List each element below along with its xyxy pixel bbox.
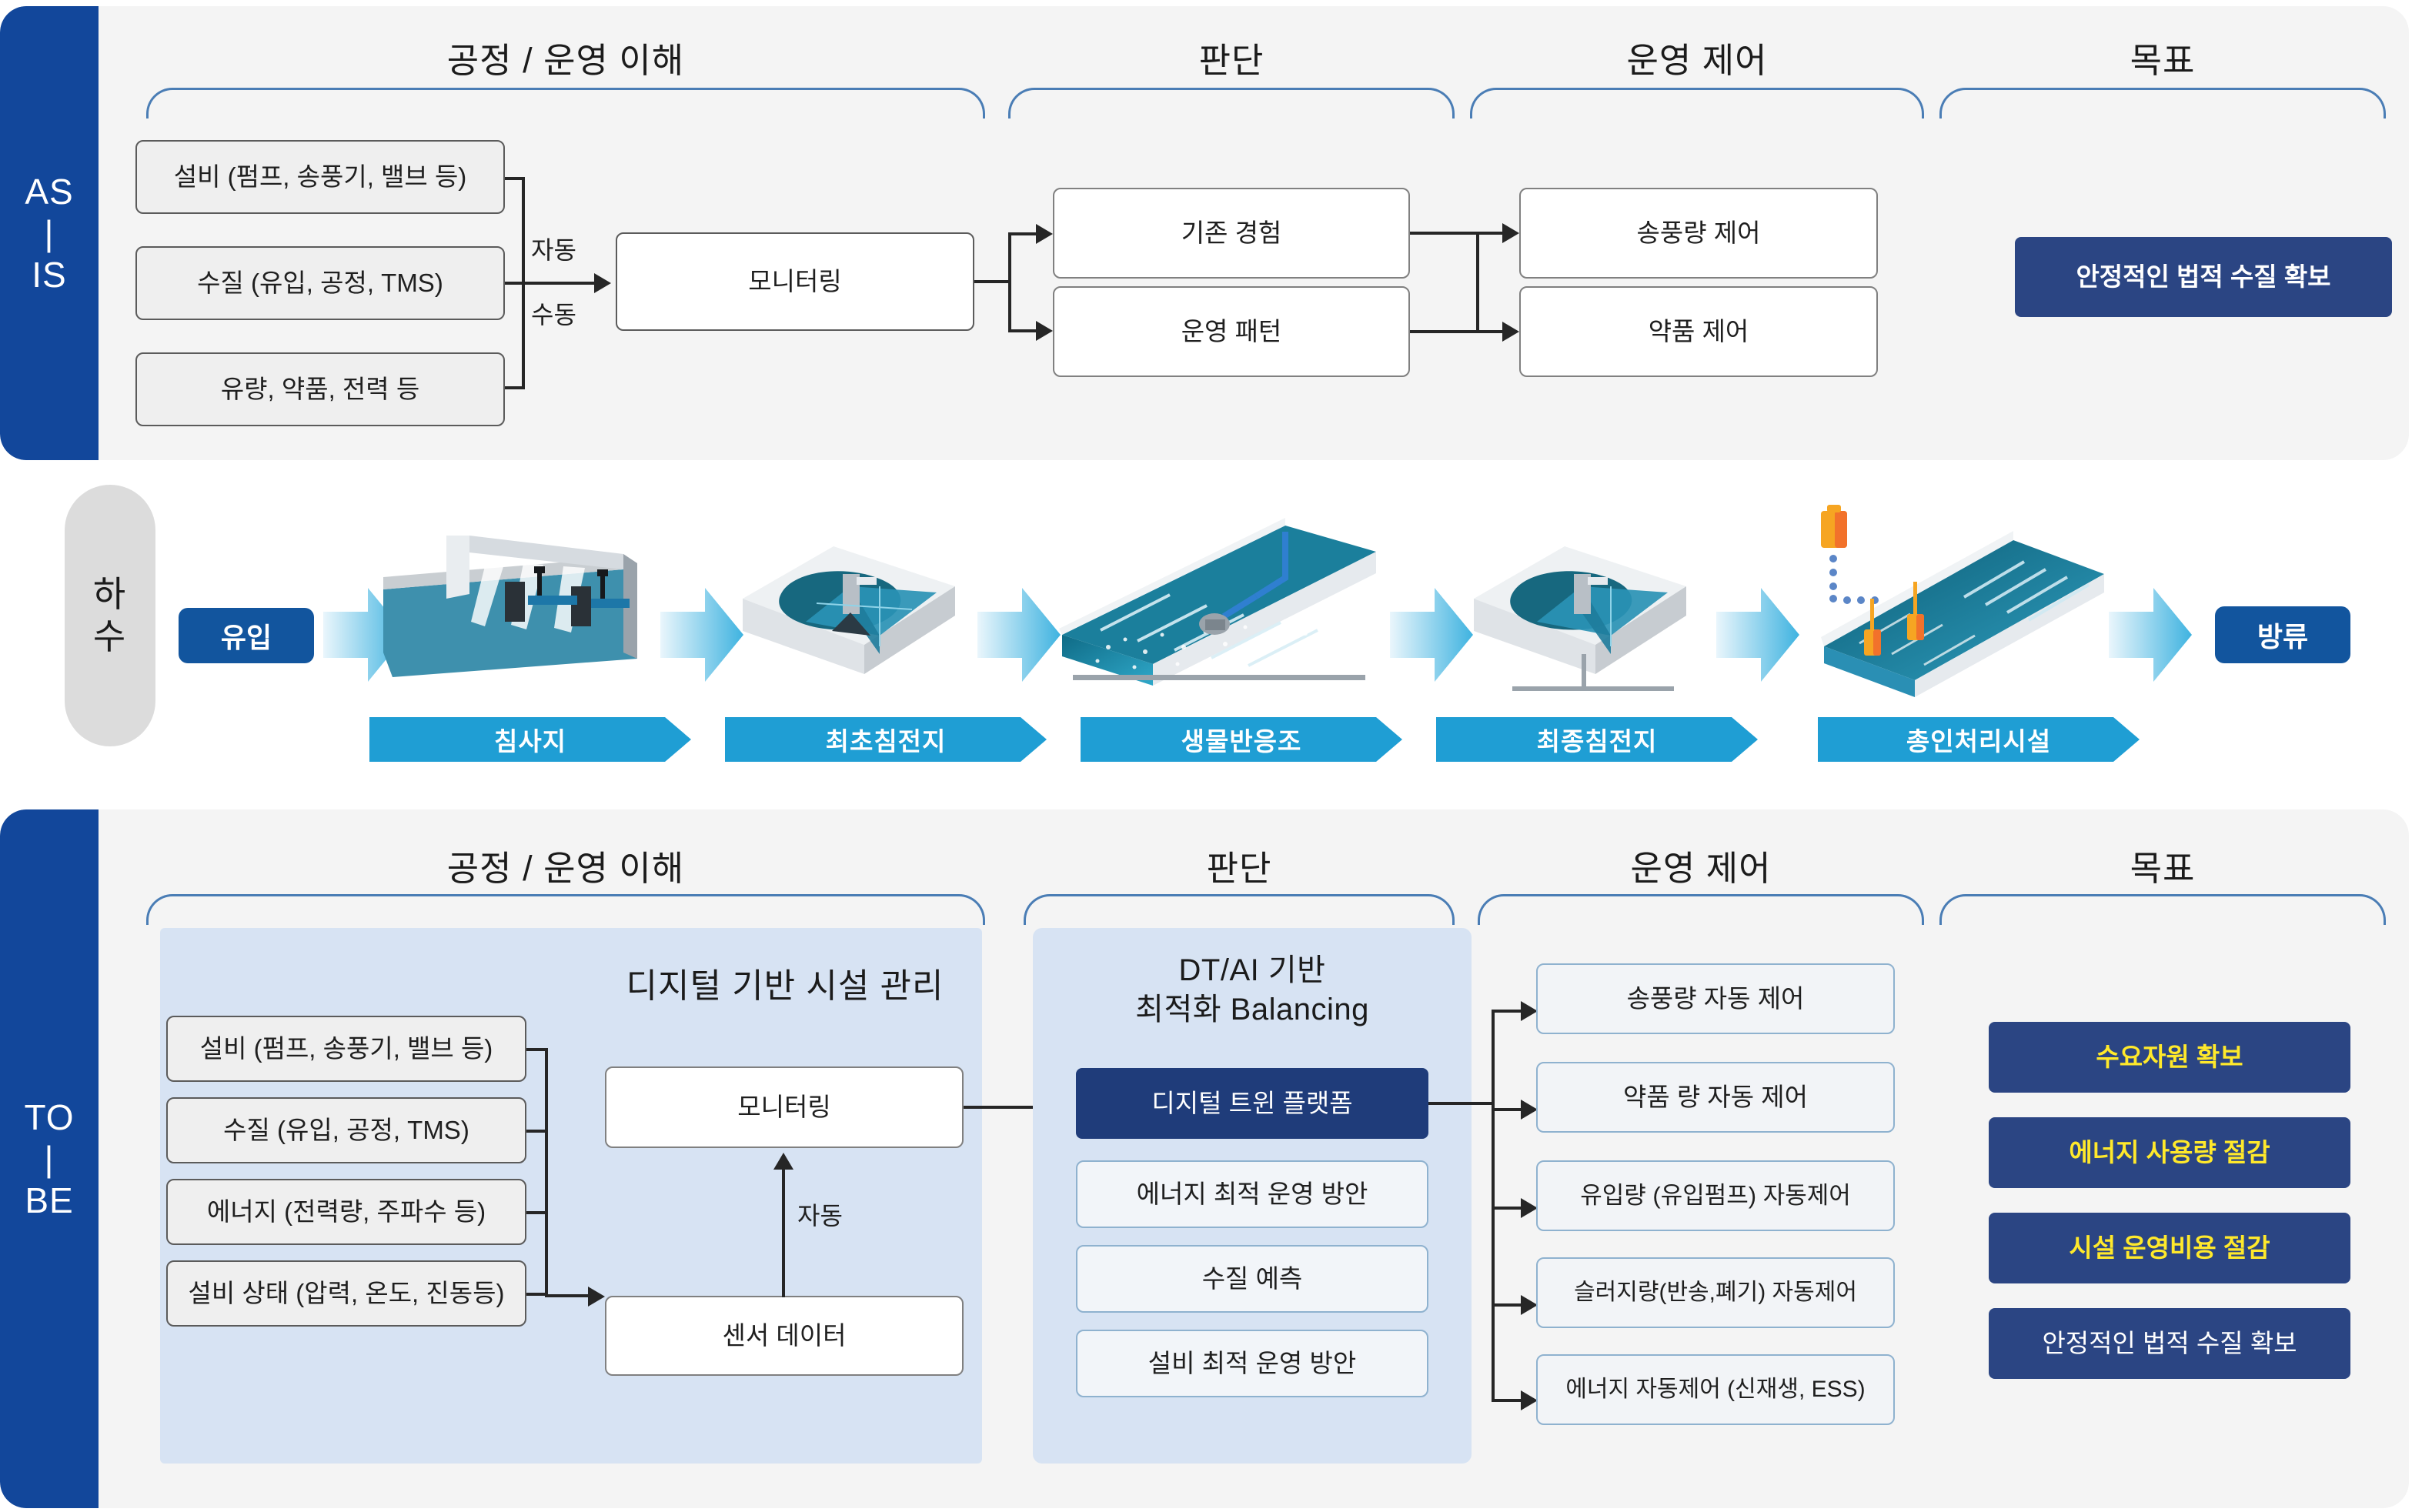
process-stage-chevron: 최종침전지 bbox=[1436, 717, 1758, 762]
stage-illustration-saengmulbanungjo bbox=[1054, 504, 1385, 696]
as-is-mon-out-line bbox=[974, 280, 1011, 283]
to-be-monitoring-box: 모니터링 bbox=[605, 1066, 964, 1148]
as-is-brace-process bbox=[146, 88, 985, 118]
to-be-brace-judgement bbox=[1024, 894, 1455, 925]
process-inlet-pill: 유입 bbox=[179, 608, 314, 663]
as-is-label-manual: 수동 bbox=[531, 295, 576, 331]
as-is-tab: AS | IS bbox=[0, 6, 99, 460]
to-be-bracket-stub bbox=[526, 1211, 548, 1214]
as-is-control-box: 송풍량 제어 bbox=[1519, 188, 1878, 279]
to-be-brace-goal bbox=[1939, 894, 2386, 925]
to-be-bracket-out bbox=[545, 1294, 593, 1297]
to-be-dtai-item-box: 설비 최적 운영 방안 bbox=[1076, 1330, 1428, 1397]
to-be-brace-control bbox=[1478, 894, 1924, 925]
to-be-dtai-item-box: 에너지 최적 운영 방안 bbox=[1076, 1160, 1428, 1228]
to-be-input-box: 설비 상태 (압력, 온도, 진동등) bbox=[166, 1260, 526, 1327]
to-be-goal-box: 에너지 사용량 절감 bbox=[1989, 1117, 2350, 1188]
process-tab: 하 수 bbox=[65, 485, 155, 746]
to-be-col-title-goal: 목표 bbox=[1939, 840, 2386, 890]
as-is-col-title-goal: 목표 bbox=[1939, 32, 2386, 82]
to-be-brace-process bbox=[146, 894, 985, 925]
as-is-tab-label: AS | IS bbox=[25, 171, 73, 296]
process-tab-label: 하 수 bbox=[93, 573, 127, 658]
as-is-to-monitoring-line bbox=[522, 282, 599, 285]
as-is-goal-box: 안정적인 법적 수질 확보 bbox=[2015, 237, 2392, 317]
process-stage-chevron: 생물반응조 bbox=[1081, 717, 1402, 762]
process-stage-chevron: 최초침전지 bbox=[725, 717, 1047, 762]
process-arrow-icon bbox=[1390, 577, 1475, 693]
process-stage-chevron: 총인처리시설 bbox=[1818, 717, 2140, 762]
to-be-bracket-stub bbox=[526, 1048, 548, 1051]
as-is-judgement-box: 기존 경험 bbox=[1053, 188, 1410, 279]
to-be-bracket-vline bbox=[545, 1048, 548, 1294]
as-is-control-arrow bbox=[1502, 322, 1519, 342]
as-is-jud-out-bot bbox=[1410, 330, 1505, 333]
as-is-col-title-judgement: 판단 bbox=[1008, 32, 1455, 82]
to-be-col-title-judgement: 판단 bbox=[1024, 840, 1455, 890]
to-be-bracket-stub bbox=[526, 1130, 548, 1133]
to-be-tab: TO | BE bbox=[0, 809, 99, 1508]
to-be-sensor-arrow bbox=[588, 1287, 605, 1307]
process-outlet-pill: 방류 bbox=[2215, 606, 2350, 663]
to-be-goal-box: 안정적인 법적 수질 확보 bbox=[1989, 1308, 2350, 1379]
as-is-judgement-box: 운영 패턴 bbox=[1053, 286, 1410, 377]
as-is-mon-split-vline bbox=[1008, 232, 1011, 332]
to-be-control-box: 송풍량 자동 제어 bbox=[1536, 963, 1895, 1034]
as-is-jud-merge-vline bbox=[1476, 232, 1479, 333]
as-is-col-title-control: 운영 제어 bbox=[1470, 32, 1924, 82]
to-be-control-arrow bbox=[1521, 1390, 1538, 1410]
as-is-input-box: 설비 (펌프, 송풍기, 밸브 등) bbox=[135, 140, 505, 214]
as-is-col-title-process: 공정 / 운영 이해 bbox=[146, 32, 985, 82]
process-arrow-icon bbox=[977, 577, 1062, 693]
as-is-control-arrow bbox=[1502, 223, 1519, 243]
as-is-to-monitoring-arrow bbox=[594, 273, 611, 293]
to-be-col-title-control: 운영 제어 bbox=[1478, 840, 1924, 890]
process-stage-chevron: 침사지 bbox=[369, 717, 691, 762]
to-be-sensor-data-box: 센서 데이터 bbox=[605, 1296, 964, 1376]
process-arrow-icon bbox=[1716, 577, 1801, 693]
to-be-facility-heading: 디지털 기반 시설 관리 bbox=[593, 958, 977, 1007]
to-be-label-auto: 자동 bbox=[797, 1197, 843, 1232]
as-is-control-box: 약품 제어 bbox=[1519, 286, 1878, 377]
as-is-judgement-arrow bbox=[1036, 224, 1053, 244]
as-is-brace-control bbox=[1470, 88, 1924, 118]
as-is-input-box: 유량, 약품, 전력 등 bbox=[135, 352, 505, 426]
to-be-control-arrow bbox=[1521, 1100, 1538, 1120]
as-is-bracket-stub bbox=[505, 177, 525, 180]
as-is-input-box: 수질 (유입, 공정, TMS) bbox=[135, 246, 505, 320]
to-be-fanout-line bbox=[1428, 1102, 1495, 1105]
stage-illustration-chochochimjeonji bbox=[735, 539, 966, 693]
stage-illustration-chonginchorisiseol bbox=[1793, 500, 2116, 700]
as-is-monitoring-box: 모니터링 bbox=[616, 232, 974, 331]
to-be-control-arrow bbox=[1521, 1001, 1538, 1021]
to-be-control-box: 슬러지량(반송,폐기) 자동제어 bbox=[1536, 1257, 1895, 1328]
to-be-fanout-vline bbox=[1492, 1010, 1495, 1402]
to-be-input-box: 에너지 (전력량, 주파수 등) bbox=[166, 1179, 526, 1245]
to-be-tab-label: TO | BE bbox=[24, 1096, 74, 1222]
to-be-control-arrow bbox=[1521, 1198, 1538, 1218]
to-be-dtai-heading: DT/AI 기반 최적화 Balancing bbox=[1041, 951, 1464, 1030]
as-is-label-auto: 자동 bbox=[531, 231, 576, 266]
as-is-judgement-arrow bbox=[1036, 321, 1053, 341]
to-be-dtai-item-box: 수질 예측 bbox=[1076, 1245, 1428, 1313]
as-is-brace-goal bbox=[1939, 88, 2386, 118]
as-is-brace-judgement bbox=[1008, 88, 1455, 118]
to-be-col-title-process: 공정 / 운영 이해 bbox=[146, 840, 985, 890]
stage-illustration-chimsaji bbox=[369, 523, 646, 693]
to-be-control-box: 에너지 자동제어 (신재생, ESS) bbox=[1536, 1354, 1895, 1425]
to-be-goal-box: 시설 운영비용 절감 bbox=[1989, 1213, 2350, 1283]
as-is-jud-out-top bbox=[1410, 232, 1505, 235]
to-be-input-box: 설비 (펌프, 송풍기, 밸브 등) bbox=[166, 1016, 526, 1082]
to-be-auto-vline bbox=[782, 1168, 785, 1297]
to-be-platform-box: 디지털 트윈 플랫폼 bbox=[1076, 1068, 1428, 1139]
stage-illustration-choejongchimjeonji bbox=[1466, 539, 1697, 700]
to-be-control-box: 유입량 (유입펌프) 자동제어 bbox=[1536, 1160, 1895, 1231]
process-arrow-icon bbox=[660, 577, 745, 693]
to-be-control-arrow bbox=[1521, 1295, 1538, 1315]
to-be-auto-arrow bbox=[773, 1153, 793, 1170]
to-be-input-box: 수질 (유입, 공정, TMS) bbox=[166, 1097, 526, 1163]
to-be-control-box: 약품 량 자동 제어 bbox=[1536, 1062, 1895, 1133]
to-be-goal-box: 수요자원 확보 bbox=[1989, 1022, 2350, 1093]
process-arrow-icon bbox=[2109, 577, 2193, 693]
as-is-bracket-stub bbox=[505, 386, 525, 389]
